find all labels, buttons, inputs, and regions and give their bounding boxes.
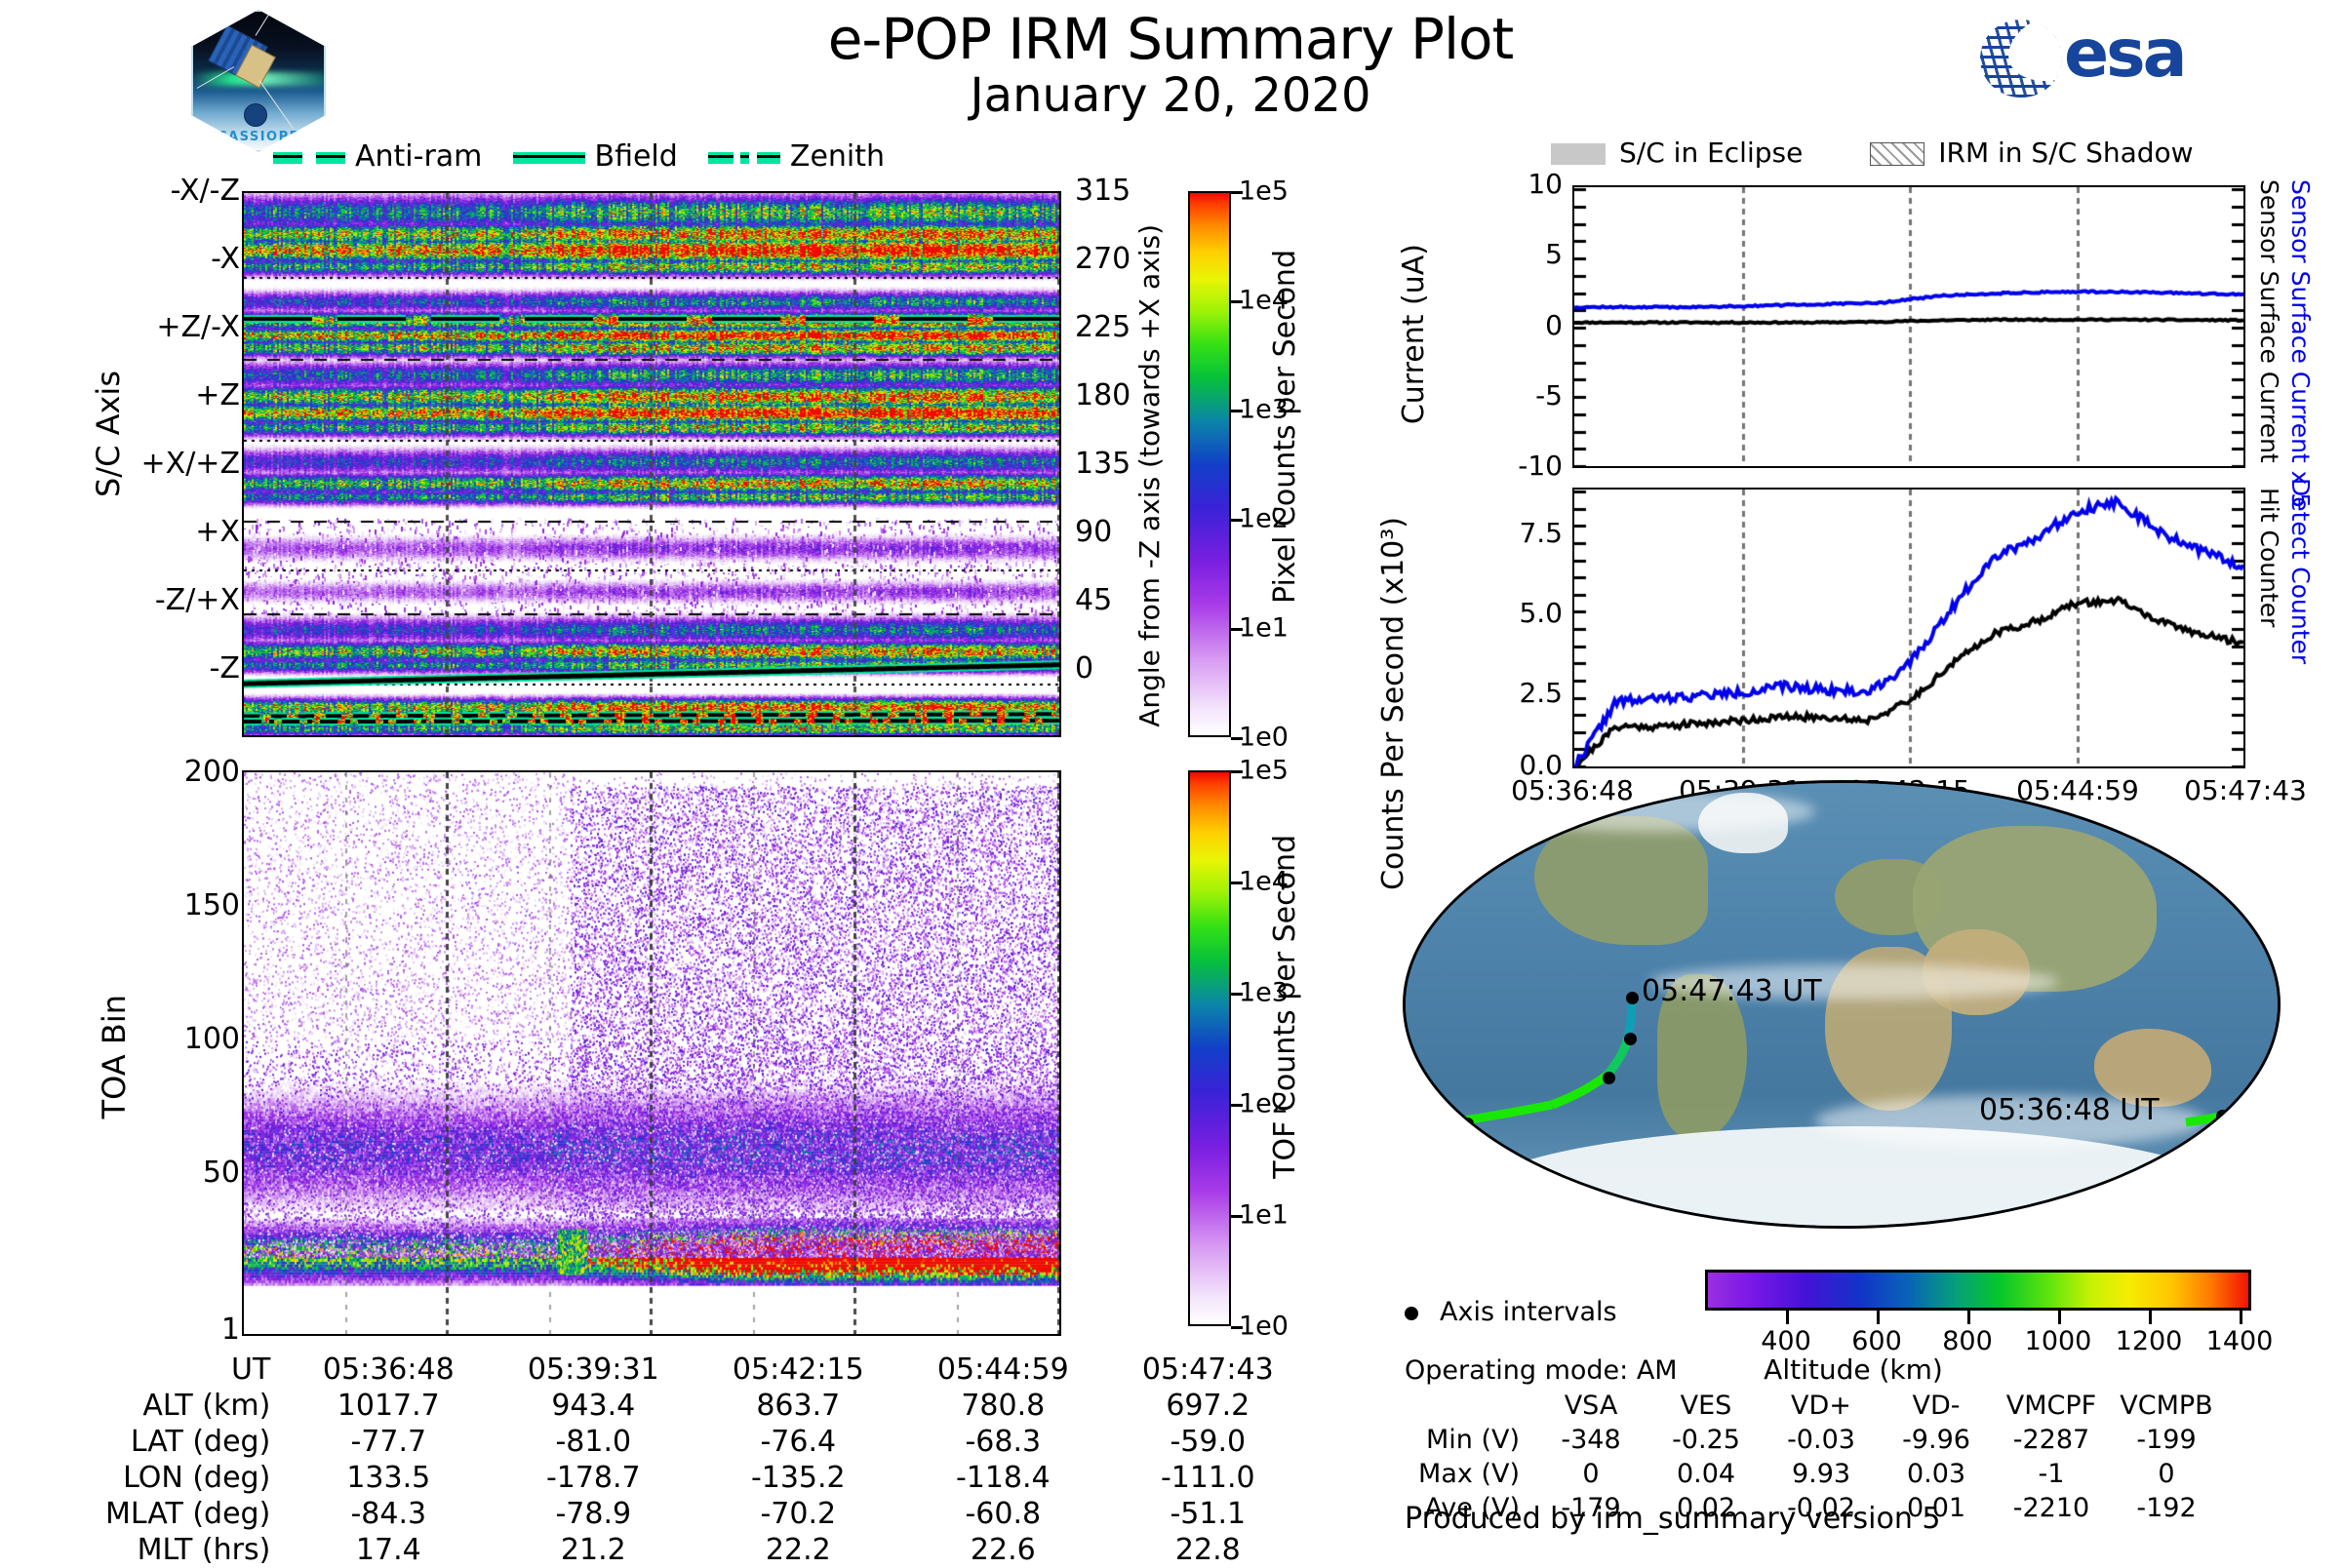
- cur-tick-m10: -10: [1518, 450, 1563, 482]
- cur-tick-5: 5: [1545, 238, 1563, 270]
- voltage-header-row: VSA VES VD+ VD- VMCPF VCMPB: [1395, 1389, 2224, 1423]
- legend-label-anti-ram: Anti-ram: [355, 139, 482, 174]
- tof-ytick-labels: 200 150 100 50 1: [146, 770, 240, 1336]
- min-vdp: -0.03: [1764, 1423, 1879, 1457]
- max-vsa: 0: [1533, 1457, 1648, 1491]
- angle-tick-135: 135: [1075, 447, 1131, 481]
- lon-1: -178.7: [491, 1460, 695, 1496]
- ytick-4: +X/+Z: [141, 447, 240, 481]
- angle-tick-180: 180: [1075, 378, 1131, 412]
- cur-tick-m5: -5: [1535, 379, 1563, 412]
- track-segment-2: [1552, 1076, 1607, 1105]
- lat-4: -59.0: [1105, 1424, 1310, 1460]
- counts-plot-area[interactable]: [1574, 490, 2243, 770]
- axis-interval-dot-3: [1624, 1033, 1637, 1045]
- vrow-label-max: Max (V): [1395, 1457, 1533, 1491]
- vcol-vsa: VSA: [1533, 1389, 1648, 1423]
- ut-1: 05:39:31: [491, 1352, 695, 1388]
- legend-item-sc-eclipse: S/C in Eclipse: [1551, 137, 1811, 169]
- cnt-tick-25: 2.5: [1519, 677, 1563, 709]
- axis-intervals-label: Axis intervals: [1440, 1297, 1617, 1327]
- current-right-label-blue: Sensor Surface Current x 5: [2286, 179, 2315, 508]
- angle-tick-0: 0: [1075, 651, 1093, 686]
- mlat-4: -51.1: [1105, 1496, 1310, 1532]
- min-vcmpb: -199: [2109, 1423, 2224, 1457]
- hatched-swatch-icon: [1870, 142, 1924, 166]
- esa-globe-icon: [1980, 20, 2062, 98]
- voltage-row-min: Min (V) -348 -0.25 -0.03 -9.96 -2287 -19…: [1395, 1423, 2224, 1457]
- voltage-row-max: Max (V) 0 0.04 9.93 0.03 -1 0: [1395, 1457, 2224, 1491]
- altitude-colorbar-label: Altitude (km): [1764, 1353, 1943, 1386]
- legend-label-bfield: Bfield: [595, 139, 678, 174]
- page-subtitle-date: January 20, 2020: [585, 68, 1756, 123]
- track-segment-3: [1607, 1039, 1628, 1076]
- mlt-3: 22.6: [900, 1532, 1105, 1568]
- cur-tick-0: 0: [1545, 309, 1563, 341]
- tof-panel[interactable]: [242, 770, 1061, 1336]
- tof-plot-area[interactable]: [244, 772, 1059, 1338]
- grey-swatch-icon: [1551, 143, 1606, 165]
- ut-4: 05:47:43: [1105, 1352, 1310, 1388]
- ytick-0: -X/-Z: [171, 174, 240, 208]
- current-ylabel: Current (uA): [1397, 244, 1431, 424]
- alt-tick-1000: 1000: [2025, 1326, 2092, 1356]
- mlat-3: -60.8: [900, 1496, 1105, 1532]
- mlt-4: 22.8: [1105, 1532, 1310, 1568]
- angle-tick-45: 45: [1075, 583, 1112, 617]
- lat-3: -68.3: [900, 1424, 1105, 1460]
- alt-tick-1200: 1200: [2116, 1326, 2183, 1356]
- toa-tick-1: 1: [221, 1313, 240, 1347]
- axis-interval-dot-4: [1626, 992, 1639, 1004]
- vcol-vdm: VD-: [1879, 1389, 1994, 1423]
- ephemeris-table: UT 05:36:48 05:39:31 05:42:15 05:44:59 0…: [105, 1352, 1310, 1568]
- solid-line-icon: [513, 152, 585, 161]
- row-label-lat: LAT (deg): [105, 1424, 286, 1460]
- spectrogram-panel[interactable]: [242, 191, 1061, 737]
- max-vcmpb: 0: [2109, 1457, 2224, 1491]
- angle-tick-315: 315: [1075, 174, 1131, 208]
- legend-item-zenith: Zenith: [708, 139, 885, 174]
- toa-tick-200: 200: [184, 755, 240, 789]
- table-row-lon: LON (deg) 133.5 -178.7 -135.2 -118.4 -11…: [105, 1460, 1310, 1496]
- alt-3: 780.8: [900, 1388, 1105, 1424]
- page-title: e-POP IRM Summary Plot: [585, 6, 1756, 72]
- cnt-tick-50: 5.0: [1519, 597, 1563, 629]
- row-label-lon: LON (deg): [105, 1460, 286, 1496]
- tof-ylabel: TOA Bin: [96, 995, 133, 1118]
- counts-ytick-labels: 7.5 5.0 2.5 0.0: [1453, 488, 1563, 768]
- ytick-3: +Z: [195, 378, 240, 412]
- table-row-ut: UT 05:36:48 05:39:31 05:42:15 05:44:59 0…: [105, 1352, 1310, 1388]
- black-dot-icon: [1405, 1307, 1418, 1320]
- spectrogram-ylabel: S/C Axis: [90, 371, 127, 497]
- toa-tick-50: 50: [203, 1156, 240, 1190]
- cur-tick-10: 10: [1528, 168, 1563, 200]
- table-row-lat: LAT (deg) -77.7 -81.0 -76.4 -68.3 -59.0: [105, 1424, 1310, 1460]
- axis-interval-dot-2: [1603, 1072, 1615, 1084]
- ytick-7: -Z: [210, 651, 240, 686]
- counts-right-label-black: Hit Counter: [2255, 488, 2283, 627]
- pixel-colorbar-label: Pixel Counts per Second: [1268, 250, 1302, 604]
- ave-vmcpf: -2210: [1994, 1491, 2109, 1525]
- min-vmcpf: -2287: [1994, 1423, 2109, 1457]
- current-right-label-black: Sensor Surface Current: [2255, 179, 2283, 463]
- axis-overlay-legend: Anti-ram Bfield Zenith: [273, 139, 995, 173]
- ave-vcmpb: -192: [2109, 1491, 2224, 1525]
- dash-dot-line-icon: [708, 152, 780, 161]
- alt-tick-600: 600: [1851, 1326, 1902, 1356]
- min-vsa: -348: [1533, 1423, 1648, 1457]
- alt-2: 863.7: [695, 1388, 900, 1424]
- alt-0: 1017.7: [286, 1388, 491, 1424]
- ytick-5: +X: [195, 515, 240, 549]
- map-label-end-time: 05:47:43 UT: [1642, 974, 1822, 1008]
- lon-2: -135.2: [695, 1460, 900, 1496]
- alt-4: 697.2: [1105, 1388, 1310, 1424]
- axis-interval-dot-end: [2216, 1110, 2229, 1122]
- ut-2: 05:42:15: [695, 1352, 900, 1388]
- produced-by-footer: Produced by irm_summary version 5: [1405, 1502, 1940, 1536]
- cb-pix-1e0: 1e0: [1239, 723, 1289, 753]
- alt-1: 943.4: [491, 1388, 695, 1424]
- spectrogram-plot-area[interactable]: [244, 193, 1059, 735]
- max-vmcpf: -1: [1994, 1457, 2109, 1491]
- max-vdp: 9.93: [1764, 1457, 1879, 1491]
- row-label-ut: UT: [105, 1352, 286, 1388]
- table-row-mlat: MLAT (deg) -84.3 -78.9 -70.2 -60.8 -51.1: [105, 1496, 1310, 1532]
- toa-tick-100: 100: [184, 1022, 240, 1056]
- vcol-vmcpf: VMCPF: [1994, 1389, 2109, 1423]
- vcol-ves: VES: [1648, 1389, 1764, 1423]
- ut-0: 05:36:48: [286, 1352, 491, 1388]
- legend-label-zenith: Zenith: [790, 139, 885, 174]
- vcol-vdp: VD+: [1764, 1389, 1879, 1423]
- cb-tof-1e1: 1e1: [1239, 1200, 1289, 1231]
- dashed-line-icon: [273, 152, 345, 161]
- legend-label-irm-shadow: IRM in S/C Shadow: [1938, 137, 2193, 169]
- max-ves: 0.04: [1648, 1457, 1764, 1491]
- lat-0: -77.7: [286, 1424, 491, 1460]
- legend-item-anti-ram: Anti-ram: [273, 139, 482, 174]
- esa-wordmark: esa: [2064, 16, 2184, 93]
- row-label-alt: ALT (km): [105, 1388, 286, 1424]
- mlat-1: -78.9: [491, 1496, 695, 1532]
- vcol-vcmpb: VCMPB: [2109, 1389, 2224, 1423]
- current-ytick-labels: 10 5 0 -5 -10: [1453, 185, 1563, 468]
- ytick-1: -X: [211, 242, 240, 276]
- ytick-2: +Z/-X: [156, 310, 240, 344]
- row-label-mlat: MLAT (deg): [105, 1496, 286, 1532]
- lat-2: -76.4: [695, 1424, 900, 1460]
- alt-tick-400: 400: [1761, 1326, 1811, 1356]
- cb-tof-1e5: 1e5: [1239, 756, 1289, 786]
- lat-1: -81.0: [491, 1424, 695, 1460]
- cb-pix-1e5: 1e5: [1239, 176, 1289, 207]
- legend-item-bfield: Bfield: [513, 139, 678, 174]
- legend-item-irm-shadow: IRM in S/C Shadow: [1870, 137, 2193, 169]
- current-plot-area[interactable]: [1574, 187, 2243, 470]
- spectrogram-right-axis-label: Angle from -Z axis (towards +X axis): [1133, 224, 1166, 727]
- mlt-0: 17.4: [286, 1532, 491, 1568]
- cnt-tick-75: 7.5: [1519, 517, 1563, 549]
- cassiope-mission-logo: CASSIOPE: [191, 10, 332, 156]
- mlt-1: 21.2: [491, 1532, 695, 1568]
- counts-right-label-blue: Detect Counter: [2286, 478, 2315, 664]
- eclipse-shadow-legend: S/C in Eclipse IRM in S/C Shadow: [1551, 137, 2292, 172]
- angle-tick-270: 270: [1075, 242, 1131, 276]
- mlat-2: -70.2: [695, 1496, 900, 1532]
- map-label-start-time: 05:36:48 UT: [1979, 1093, 2160, 1127]
- alt-tick-800: 800: [1942, 1326, 1993, 1356]
- track-segment-tail: [1464, 1105, 1552, 1120]
- axis-intervals-legend: Axis intervals: [1405, 1297, 1617, 1327]
- esa-logo: esa: [1980, 14, 2273, 103]
- mlt-2: 22.2: [695, 1532, 900, 1568]
- row-label-mlt: MLT (hrs): [105, 1532, 286, 1568]
- table-row-mlt: MLT (hrs) 17.4 21.2 22.2 22.6 22.8: [105, 1532, 1310, 1568]
- axis-interval-dot-start: [1461, 1117, 1474, 1130]
- max-vdm: 0.03: [1879, 1457, 1994, 1491]
- mlat-0: -84.3: [286, 1496, 491, 1532]
- ground-track-map[interactable]: 05:47:43 UT 05:36:48 UT: [1403, 780, 2281, 1229]
- counts-panel[interactable]: [1572, 488, 2245, 768]
- tof-colorbar-ticks: 1e5 1e4 1e3 1e2 1e1 1e0: [1188, 770, 1231, 1326]
- angle-tick-225: 225: [1075, 310, 1131, 344]
- angle-tick-90: 90: [1075, 515, 1112, 549]
- lon-0: 133.5: [286, 1460, 491, 1496]
- vrow-label-min: Min (V): [1395, 1423, 1533, 1457]
- alt-tick-1400: 1400: [2206, 1326, 2274, 1356]
- toa-tick-150: 150: [184, 888, 240, 922]
- ut-3: 05:44:59: [900, 1352, 1105, 1388]
- current-panel[interactable]: [1572, 185, 2245, 468]
- altitude-colorbar: [1705, 1270, 2251, 1311]
- table-row-alt: ALT (km) 1017.7 943.4 863.7 780.8 697.2: [105, 1388, 1310, 1424]
- tof-colorbar-label: TOF Counts per Second: [1268, 835, 1302, 1179]
- cb-pix-1e1: 1e1: [1239, 613, 1289, 644]
- map-canvas[interactable]: 05:47:43 UT 05:36:48 UT: [1403, 780, 2281, 1229]
- min-vdm: -9.96: [1879, 1423, 1994, 1457]
- legend-label-sc-eclipse: S/C in Eclipse: [1619, 137, 1803, 169]
- cb-tof-1e0: 1e0: [1239, 1312, 1289, 1342]
- ytick-6: -Z/+X: [155, 583, 240, 617]
- min-ves: -0.25: [1648, 1423, 1764, 1457]
- spectrogram-ytick-labels: -X/-Z -X +Z/-X +Z +X/+Z +X -Z/+X -Z: [146, 191, 240, 737]
- orbit-track: [1406, 783, 2281, 1229]
- lon-3: -118.4: [900, 1460, 1105, 1496]
- pixel-colorbar-ticks: 1e5 1e4 1e3 1e2 1e1 1e0: [1188, 191, 1231, 737]
- lon-4: -111.0: [1105, 1460, 1310, 1496]
- operating-mode-text: Operating mode: AM: [1405, 1355, 1678, 1386]
